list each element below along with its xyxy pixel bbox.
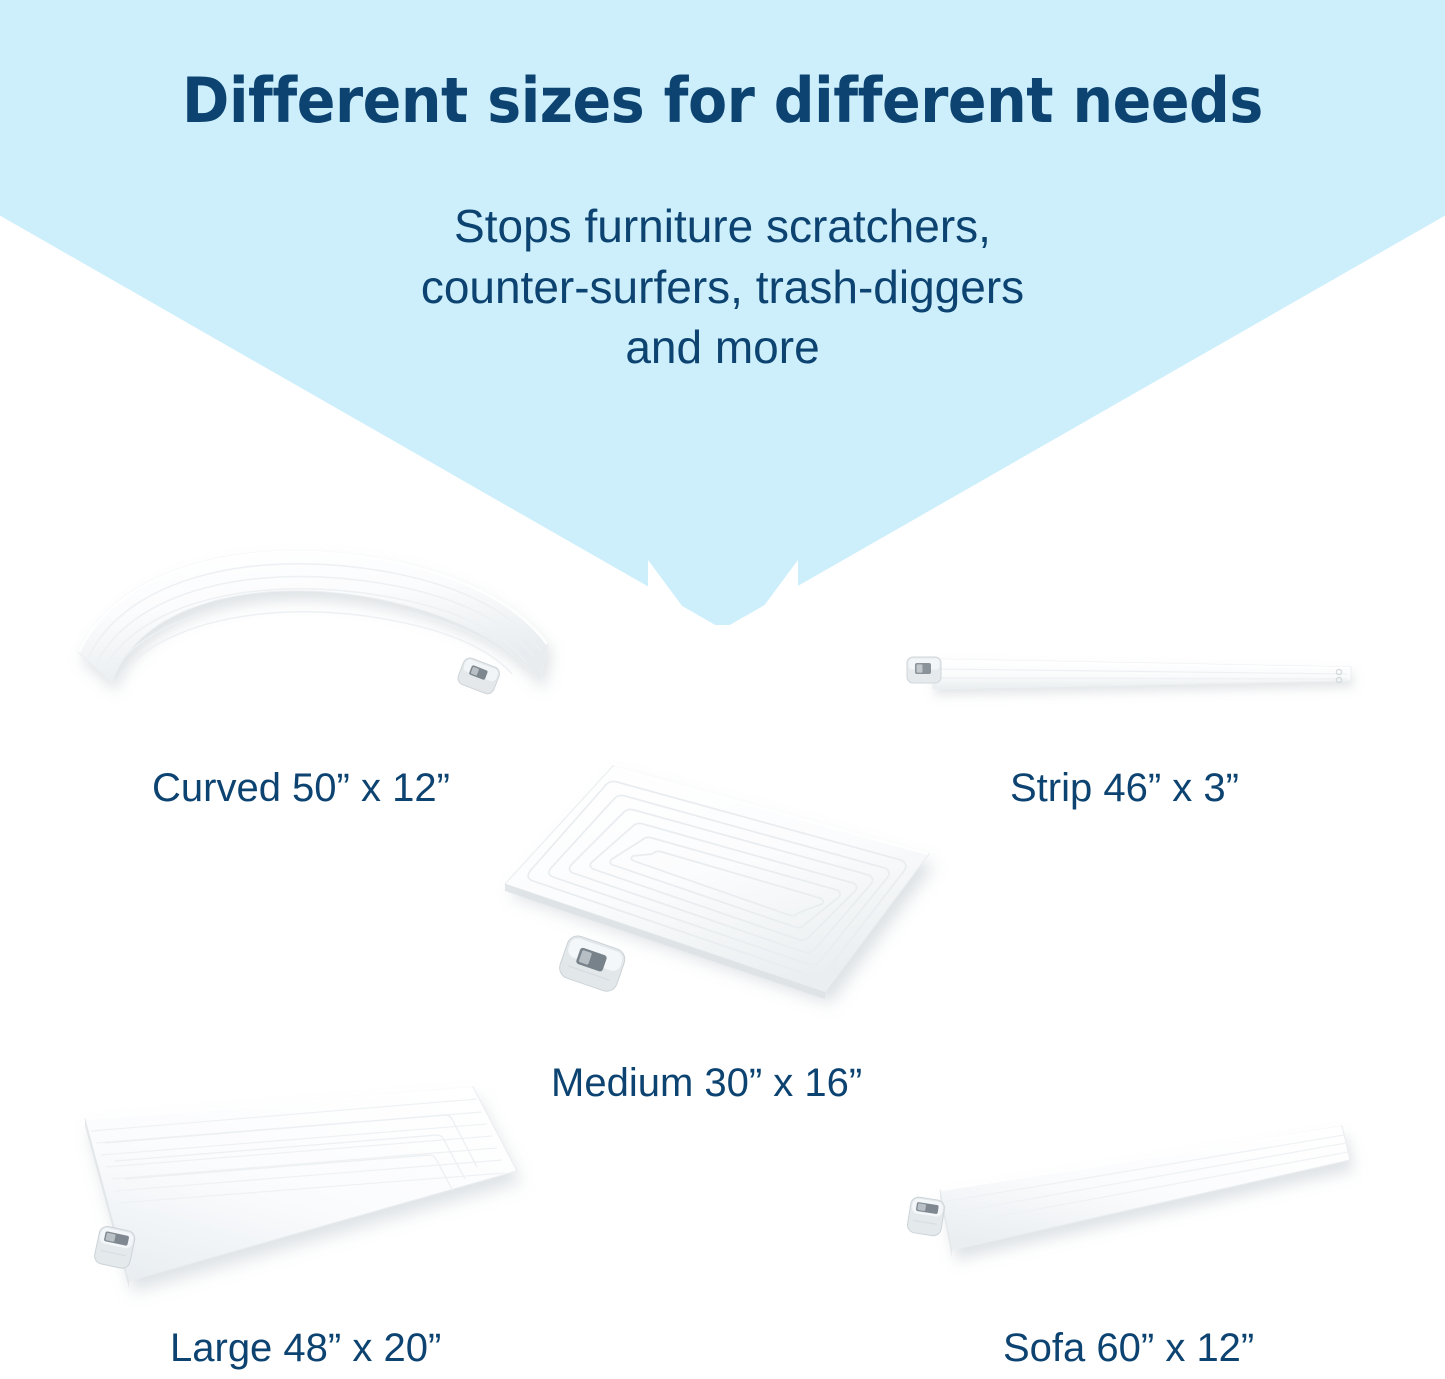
control-module-icon bbox=[93, 1225, 136, 1270]
product-image-curved bbox=[70, 540, 560, 750]
subheadline-line-3: and more bbox=[0, 317, 1445, 378]
control-module-icon bbox=[456, 656, 502, 696]
control-module-icon bbox=[907, 657, 941, 683]
product-label-large: Large 48” x 20” bbox=[170, 1326, 441, 1371]
medium-mat-graphic bbox=[495, 758, 935, 1023]
subheadline-line-1: Stops furniture scratchers, bbox=[0, 196, 1445, 257]
product-image-sofa bbox=[910, 1110, 1355, 1290]
infographic-page: Different sizes for different needs Stop… bbox=[0, 0, 1445, 1379]
page-subheadline: Stops furniture scratchers, counter-surf… bbox=[0, 196, 1445, 378]
subheadline-line-2: counter-surfers, trash-diggers bbox=[0, 257, 1445, 318]
control-module-icon bbox=[557, 933, 628, 994]
sofa-mat-graphic bbox=[910, 1110, 1355, 1290]
product-label-sofa: Sofa 60” x 12” bbox=[1003, 1326, 1254, 1371]
product-label-medium: Medium 30” x 16” bbox=[551, 1061, 862, 1106]
control-module-icon bbox=[906, 1196, 945, 1237]
product-image-strip bbox=[905, 645, 1355, 705]
product-image-medium bbox=[495, 758, 935, 1023]
page-headline: Different sizes for different needs bbox=[58, 68, 1387, 133]
product-label-strip: Strip 46” x 3” bbox=[1010, 766, 1239, 811]
product-image-large bbox=[85, 1085, 525, 1305]
strip-mat-graphic bbox=[905, 645, 1355, 705]
large-mat-graphic bbox=[85, 1085, 525, 1305]
product-label-curved: Curved 50” x 12” bbox=[152, 766, 450, 811]
curved-mat-graphic bbox=[70, 540, 560, 750]
